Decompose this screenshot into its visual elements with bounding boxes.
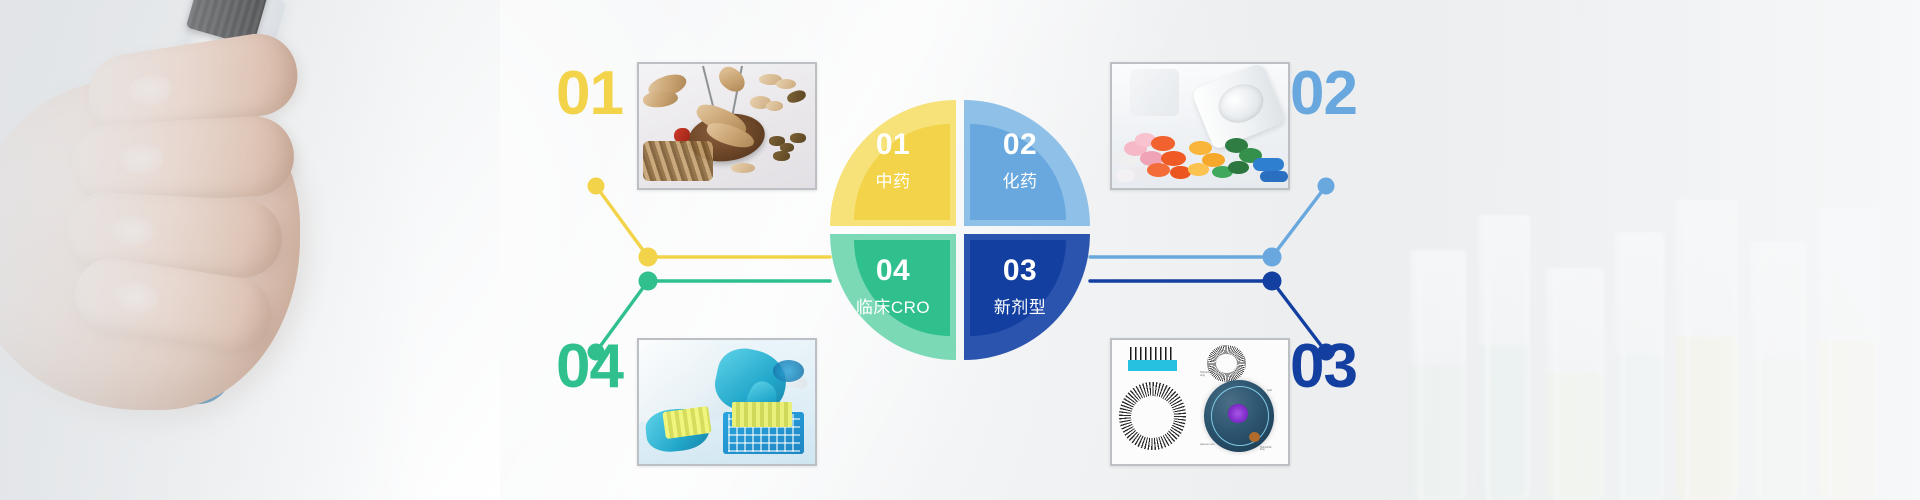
thumb-lab-pipetting[interactable] [637,338,817,466]
segment-chemical-label: 化药 [964,167,1076,192]
thumb-colored-pills[interactable] [1110,62,1290,190]
segment-wheel: 01 中药 02 化药 04 临床CRO [830,100,1090,360]
segment-tcm-number: 01 [830,130,956,160]
segment-chemical[interactable]: 02 化药 [964,100,1084,220]
thumb-chinese-herbal-medicine[interactable] [637,62,817,190]
segment-chemical-number: 02 [964,130,1076,160]
segment-clinical-cro[interactable]: 04 临床CRO [830,234,950,354]
outer-number-new-dosage: 03 [1290,336,1357,398]
segment-new-dosage-number: 03 [964,256,1076,286]
banner-stage: 50 ml [0,0,1920,500]
segment-tcm[interactable]: 01 中药 [830,100,950,220]
thumb-liposome-diagram[interactable]: Hydrophobicdrug Lipid Aqueous core Hydro… [1110,338,1290,466]
segment-tcm-label: 中药 [830,167,956,192]
outer-number-tcm: 01 [556,63,623,125]
segment-clinical-cro-label: 临床CRO [830,293,956,318]
outer-number-clinical-cro: 04 [556,336,623,398]
segment-new-dosage-label: 新剂型 [964,293,1076,318]
segment-new-dosage[interactable]: 03 新剂型 [964,234,1084,354]
segment-clinical-cro-number: 04 [830,256,956,286]
outer-number-chemical: 02 [1290,63,1357,125]
